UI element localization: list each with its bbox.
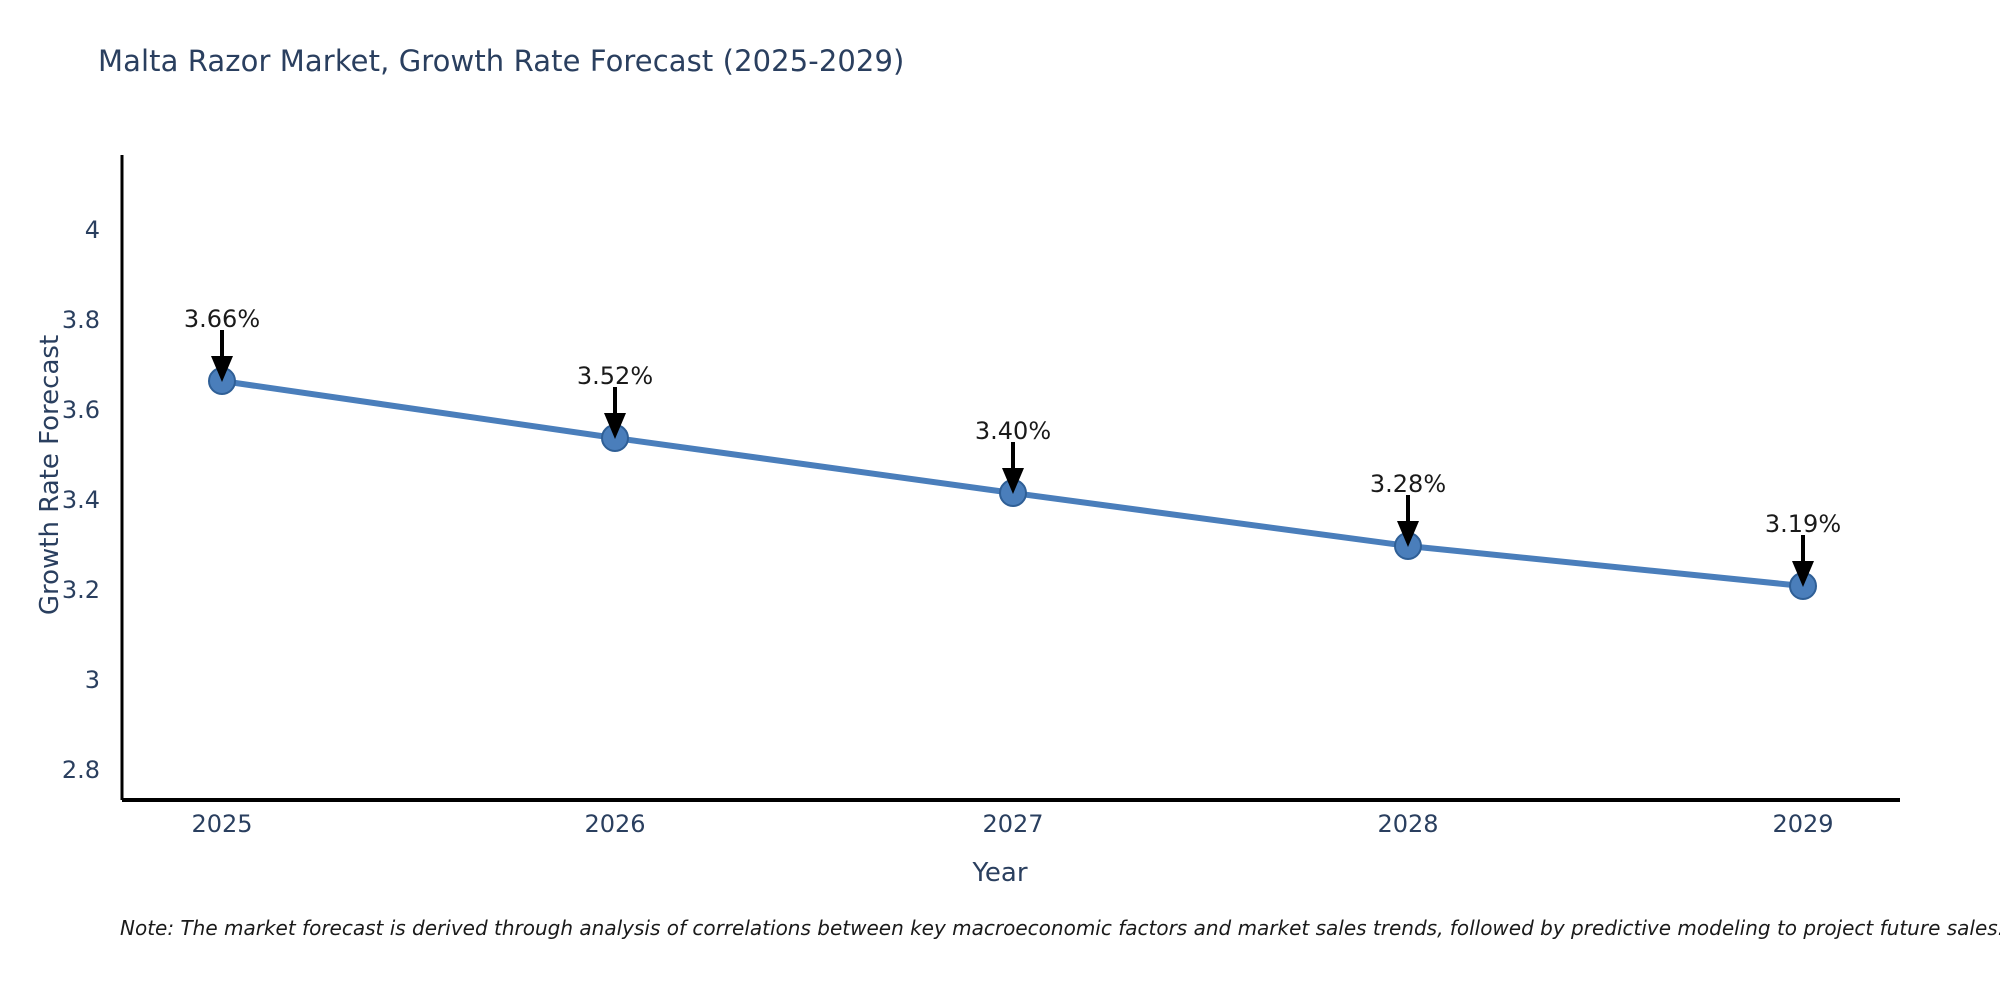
chart-figure: Malta Razor Market, Growth Rate Forecast… — [0, 0, 2000, 1000]
data-point-label: 3.19% — [1765, 510, 1841, 538]
data-point-label: 3.40% — [975, 417, 1051, 445]
plot-area — [0, 0, 2000, 1000]
data-point-label: 3.52% — [577, 362, 653, 390]
chart-footnote: Note: The market forecast is derived thr… — [120, 916, 2000, 940]
data-point-label: 3.66% — [184, 305, 260, 333]
data-point-label: 3.28% — [1370, 470, 1446, 498]
